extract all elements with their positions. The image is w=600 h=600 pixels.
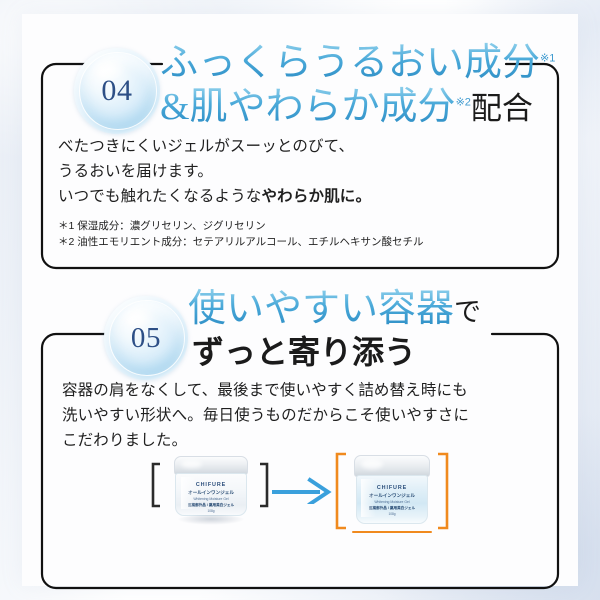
before-jar-lid [174,456,248,475]
section-05-number: 05 [104,296,188,380]
section-05-headline-line1: 使いやすい容器で [188,290,481,328]
section-05-headline-line1-text: 使いやすい容器 [188,288,454,330]
section-04-note-1: ＊1 保湿成分：濃グリセリン、ジグリセリン [58,218,538,234]
transition-arrow-icon [272,476,334,504]
section-04-note-2: ＊2 油性エモリエント成分：セテアリルアルコール、エチルヘキサン酸セチル [58,234,538,250]
after-jar-label: CHIFURE オールインワンジェル Whitening Moisture Ge… [357,485,428,516]
section-05-body-line2: 洗いやすい形状へ。毎日使うものだからこそ使いやすさに [62,403,532,428]
before-jar-line3: 医薬部外品 / 薬用美白ジェル [176,503,245,507]
section-04-body-line3-plain: いつでも触れたくなるような [58,188,262,205]
section-04-headline-line1: ふっくらうるおい成分※1 [160,44,555,82]
before-jar-label: CHIFURE オールインワンジェル Whitening Moisture Ge… [176,482,245,513]
section-04-headline-line2: &肌やわらか成分※2配合 [160,88,533,126]
before-jar-brand: CHIFURE [176,482,245,489]
after-jar-line3: 医薬部外品 / 薬用美白ジェル [357,506,428,510]
after-jar-line2: Whitening Moisture Gel [357,500,428,504]
before-jar-line1: オールインワンジェル [176,490,245,496]
section-05-number-bubble: 05 [104,296,188,380]
section-04-headline-line2-tail: 配合 [471,91,533,126]
before-jar: CHIFURE オールインワンジェル Whitening Moisture Ge… [174,456,248,518]
section-05-body-line1: 容器の肩をなくして、最後まで使いやすく詰め替え時にも [62,378,532,403]
product-comparison: CHIFURE オールインワンジェル Whitening Moisture Ge… [150,452,450,542]
section-05-headline-line2: ずっと寄り添う [192,336,416,368]
bubble-gloss-05 [121,306,155,328]
section-04-headline-line2-text: &肌やわらか成分 [160,86,456,128]
section-05-headline-line1-tail: で [454,297,481,327]
section-04-body-line1: べたつきにくいジェルがスーッとのびて、 [58,134,528,159]
section-04-body-line2: うるおいを届けます。 [58,159,528,184]
after-jar-line4: 108g [357,512,428,516]
section-04-headline-sup1: ※1 [540,52,555,64]
after-jar-body: CHIFURE オールインワンジェル Whitening Moisture Ge… [356,475,429,524]
section-04-body: べたつきにくいジェルがスーッとのびて、 うるおいを届けます。 いつでも触れたくな… [58,134,528,209]
section-04-number-bubble: 04 [74,48,160,134]
after-jar-lid [354,455,430,477]
after-jar-line1: オールインワンジェル [357,493,428,499]
section-05-body-line3: こだわりました。 [62,428,532,453]
before-jar-line4: 108g [176,509,245,513]
section-04-number: 04 [74,48,160,134]
section-04-body-line3-bold: やわらか肌に。 [262,188,372,205]
before-jar-line2: Whitening Moisture Gel [176,497,245,501]
before-jar-body: CHIFURE オールインワンジェル Whitening Moisture Ge… [175,473,246,515]
after-jar: CHIFURE オールインワンジェル Whitening Moisture Ge… [354,455,430,527]
after-jar-brand: CHIFURE [357,485,428,492]
section-04-headline-sup2: ※2 [456,96,471,108]
section-04-notes: ＊1 保湿成分：濃グリセリン、ジグリセリン ＊2 油性エモリエント成分：セテアリ… [58,218,538,251]
bubble-gloss-04 [91,58,125,80]
after-jar-baseline [352,531,432,533]
section-05-body: 容器の肩をなくして、最後まで使いやすく詰め替え時にも 洗いやすい形状へ。毎日使う… [62,378,532,453]
section-04-body-line3: いつでも触れたくなるようなやわらか肌に。 [58,184,528,209]
before-jar-shadow [177,515,245,525]
section-04-headline-line1-text: ふっくらうるおい成分 [160,42,540,84]
product-feature-page: 04 ふっくらうるおい成分※1 &肌やわらか成分※2配合 べたつきにくいジェルが… [0,0,600,600]
